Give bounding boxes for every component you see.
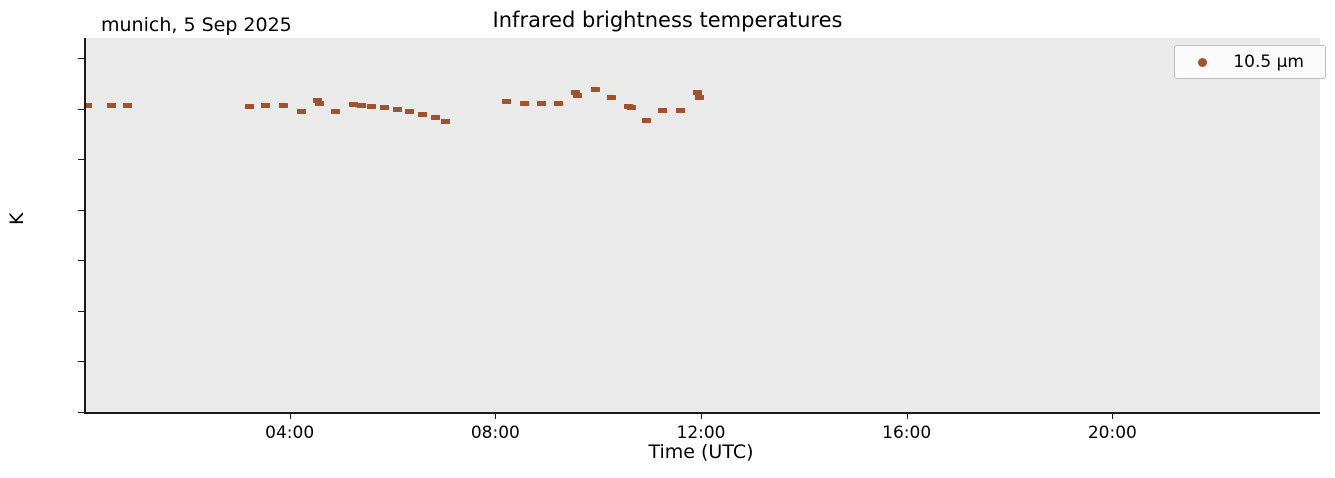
x-tick-mark <box>495 413 496 419</box>
y-tick-mark <box>78 58 84 59</box>
data-point <box>315 101 324 106</box>
data-point <box>367 104 376 109</box>
data-point <box>279 103 288 108</box>
data-point <box>331 109 340 114</box>
data-point <box>695 95 704 100</box>
legend-swatch-icon <box>1198 58 1207 67</box>
data-point <box>591 87 600 92</box>
chart-title: Infrared brightness temperatures <box>0 8 1335 32</box>
x-tick-mark <box>701 413 702 419</box>
data-point <box>431 115 440 120</box>
data-point <box>658 108 667 113</box>
chart-legend[interactable]: 10.5 µm <box>1174 45 1326 79</box>
x-tick-label: 04:00 <box>265 423 314 443</box>
data-point <box>627 105 636 110</box>
x-tick-label: 08:00 <box>471 423 520 443</box>
data-layer <box>86 38 1320 412</box>
x-tick-label: 16:00 <box>882 423 931 443</box>
data-point <box>573 93 582 98</box>
y-tick-mark <box>78 210 84 211</box>
data-point <box>107 103 116 108</box>
plot-area <box>84 38 1320 414</box>
x-tick-label: 20:00 <box>1088 423 1137 443</box>
data-point <box>380 105 389 110</box>
legend-label: 10.5 µm <box>1233 52 1304 72</box>
data-point <box>537 101 546 106</box>
data-point <box>393 107 402 112</box>
y-tick-mark <box>78 361 84 362</box>
data-point <box>261 103 270 108</box>
x-tick-mark <box>290 413 291 419</box>
y-tick-mark <box>78 311 84 312</box>
data-point <box>676 108 685 113</box>
chart-figure: munich, 5 Sep 2025 Infrared brightness t… <box>0 0 1335 478</box>
x-axis-label: Time (UTC) <box>84 441 1318 463</box>
x-tick-mark <box>907 413 908 419</box>
data-point <box>502 99 511 104</box>
y-tick-mark <box>78 159 84 160</box>
y-tick-mark <box>78 109 84 110</box>
data-point <box>554 101 563 106</box>
data-point <box>642 118 651 123</box>
y-tick-mark <box>78 260 84 261</box>
data-point <box>245 104 254 109</box>
data-point <box>357 103 366 108</box>
data-point <box>86 103 92 108</box>
data-point <box>297 109 306 114</box>
y-axis-label: K <box>6 213 28 225</box>
x-tick-mark <box>1112 413 1113 419</box>
data-point <box>441 119 450 124</box>
data-point <box>418 112 427 117</box>
data-point <box>520 101 529 106</box>
data-point <box>693 90 702 95</box>
x-tick-label: 12:00 <box>677 423 726 443</box>
data-point <box>607 95 616 100</box>
data-point <box>405 109 414 114</box>
data-point <box>123 103 132 108</box>
